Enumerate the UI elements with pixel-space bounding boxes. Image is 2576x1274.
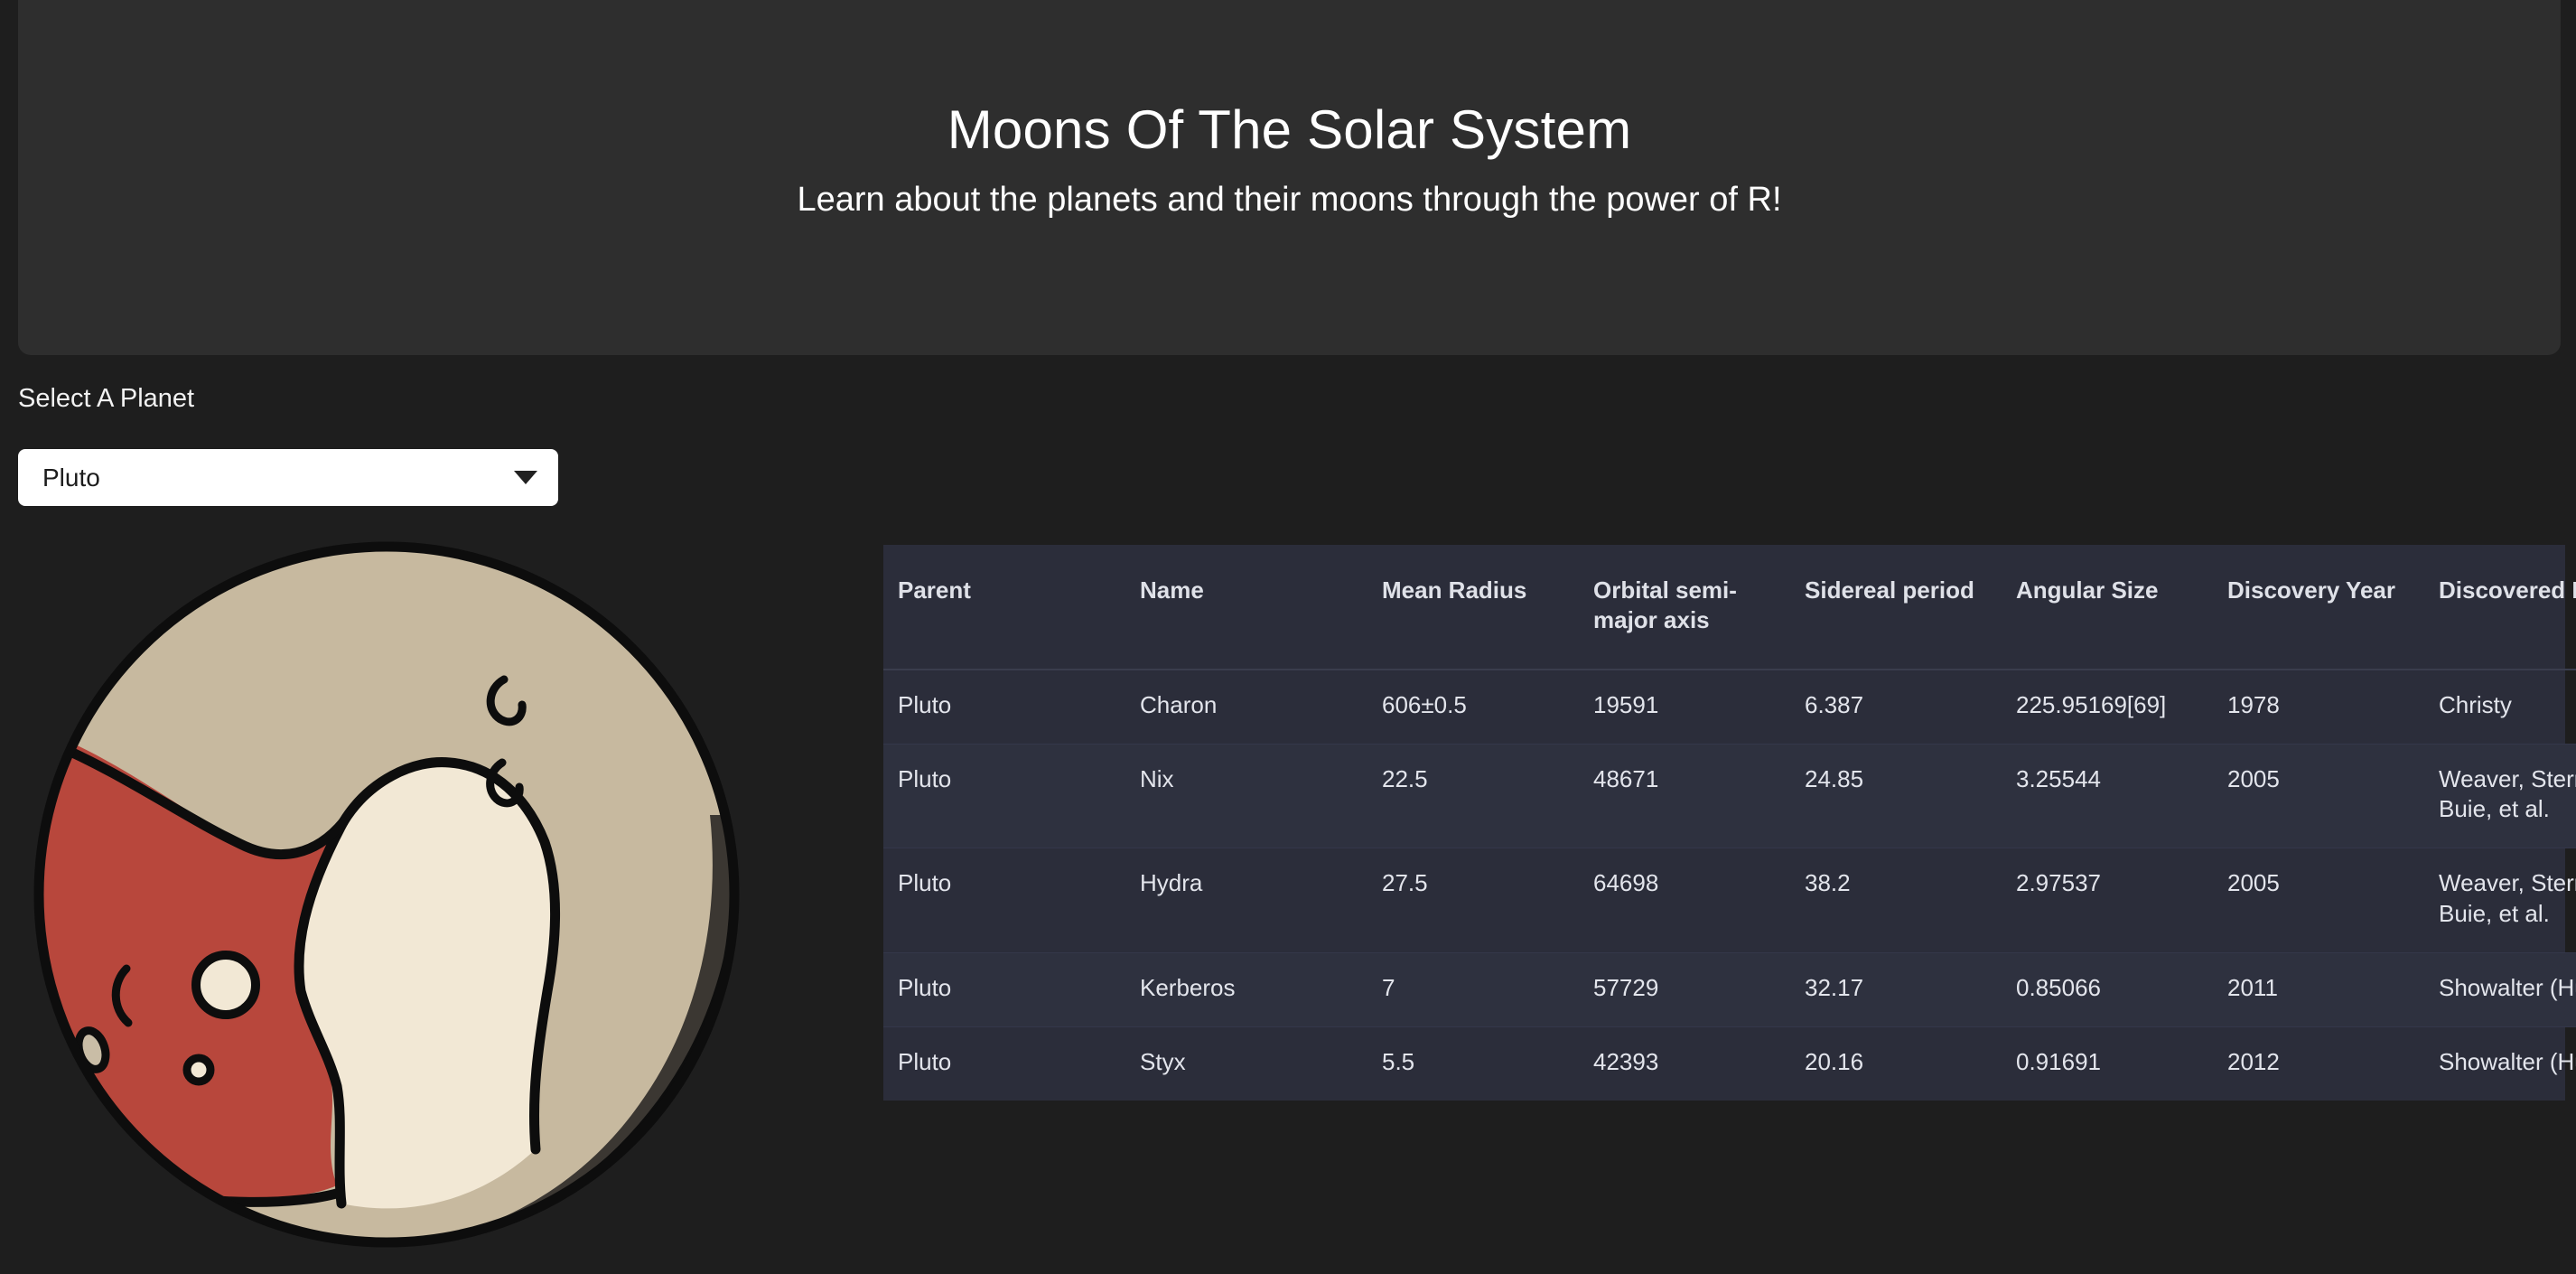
table-row: Pluto Kerberos 7 57729 32.17 0.85066 201… (883, 952, 2576, 1026)
cell-discovered-by: Weaver, Stern, Buie, et al. (2424, 744, 2576, 848)
cell-sidereal-period: 20.16 (1790, 1027, 2002, 1101)
cell-sidereal-period: 24.85 (1790, 744, 2002, 848)
planet-select-value: Pluto (42, 465, 514, 491)
cell-discovery-year: 2012 (2213, 1027, 2424, 1101)
cell-sidereal-period: 38.2 (1790, 848, 2002, 953)
cell-parent: Pluto (883, 952, 1125, 1026)
cell-orbital-semi-major-axis: 19591 (1579, 670, 1790, 745)
column-header-parent[interactable]: Parent (883, 545, 1125, 670)
cell-name: Nix (1125, 744, 1367, 848)
moons-table-body: Pluto Charon 606±0.5 19591 6.387 225.951… (883, 670, 2576, 1101)
column-header-orbital-semi-major-axis[interactable]: Orbital semi-major axis (1579, 545, 1790, 670)
cell-parent: Pluto (883, 1027, 1125, 1101)
cell-parent: Pluto (883, 744, 1125, 848)
cell-orbital-semi-major-axis: 57729 (1579, 952, 1790, 1026)
cell-parent: Pluto (883, 848, 1125, 953)
table-row: Pluto Hydra 27.5 64698 38.2 2.97537 2005… (883, 848, 2576, 953)
cell-angular-size: 225.95169[69] (2002, 670, 2213, 745)
column-header-name[interactable]: Name (1125, 545, 1367, 670)
cell-discovered-by: Showalter (Hubble) (2424, 1027, 2576, 1101)
page-title: Moons Of The Solar System (947, 101, 1632, 158)
cell-orbital-semi-major-axis: 64698 (1579, 848, 1790, 953)
cell-discovery-year: 2005 (2213, 848, 2424, 953)
cell-orbital-semi-major-axis: 48671 (1579, 744, 1790, 848)
column-header-angular-size[interactable]: Angular Size (2002, 545, 2213, 670)
page-header-banner: Moons Of The Solar System Learn about th… (18, 0, 2561, 355)
cell-discovery-year: 2005 (2213, 744, 2424, 848)
cell-angular-size: 2.97537 (2002, 848, 2213, 953)
cell-mean-radius: 7 (1367, 952, 1579, 1026)
cell-mean-radius: 27.5 (1367, 848, 1579, 953)
cell-discovery-year: 1978 (2213, 670, 2424, 745)
moons-table-head: Parent Name Mean Radius Orbital semi-maj… (883, 545, 2576, 670)
cell-discovered-by: Weaver, Stern, Buie, et al. (2424, 848, 2576, 953)
planet-select-label: Select A Planet (18, 384, 194, 414)
table-row: Pluto Nix 22.5 48671 24.85 3.25544 2005 … (883, 744, 2576, 848)
cell-name: Kerberos (1125, 952, 1367, 1026)
moons-table: Parent Name Mean Radius Orbital semi-maj… (883, 545, 2576, 1101)
chevron-down-icon[interactable] (514, 471, 537, 484)
moons-table-container: Parent Name Mean Radius Orbital semi-maj… (883, 545, 2565, 1101)
cell-sidereal-period: 6.387 (1790, 670, 2002, 745)
cell-angular-size: 0.91691 (2002, 1027, 2213, 1101)
page-subtitle: Learn about the planets and their moons … (797, 180, 1781, 221)
cell-sidereal-period: 32.17 (1790, 952, 2002, 1026)
cell-angular-size: 3.25544 (2002, 744, 2213, 848)
cell-angular-size: 0.85066 (2002, 952, 2213, 1026)
cell-orbital-semi-major-axis: 42393 (1579, 1027, 1790, 1101)
cell-name: Charon (1125, 670, 1367, 745)
table-header-row: Parent Name Mean Radius Orbital semi-maj… (883, 545, 2576, 670)
cell-discovered-by: Christy (2424, 670, 2576, 745)
cell-mean-radius: 22.5 (1367, 744, 1579, 848)
planet-select[interactable]: Pluto (18, 449, 558, 506)
planet-select-wrapper[interactable]: Pluto (18, 449, 558, 506)
cell-discovery-year: 2011 (2213, 952, 2424, 1026)
column-header-sidereal-period[interactable]: Sidereal period (1790, 545, 2002, 670)
pluto-illustration (25, 517, 766, 1258)
cell-discovered-by: Showalter (Hubble) (2424, 952, 2576, 1026)
column-header-discovered-by[interactable]: Discovered By (2424, 545, 2576, 670)
table-row: Pluto Styx 5.5 42393 20.16 0.91691 2012 … (883, 1027, 2576, 1101)
cell-name: Styx (1125, 1027, 1367, 1101)
cell-mean-radius: 5.5 (1367, 1027, 1579, 1101)
cell-parent: Pluto (883, 670, 1125, 745)
column-header-mean-radius[interactable]: Mean Radius (1367, 545, 1579, 670)
table-row: Pluto Charon 606±0.5 19591 6.387 225.951… (883, 670, 2576, 745)
cell-mean-radius: 606±0.5 (1367, 670, 1579, 745)
column-header-discovery-year[interactable]: Discovery Year (2213, 545, 2424, 670)
cell-name: Hydra (1125, 848, 1367, 953)
